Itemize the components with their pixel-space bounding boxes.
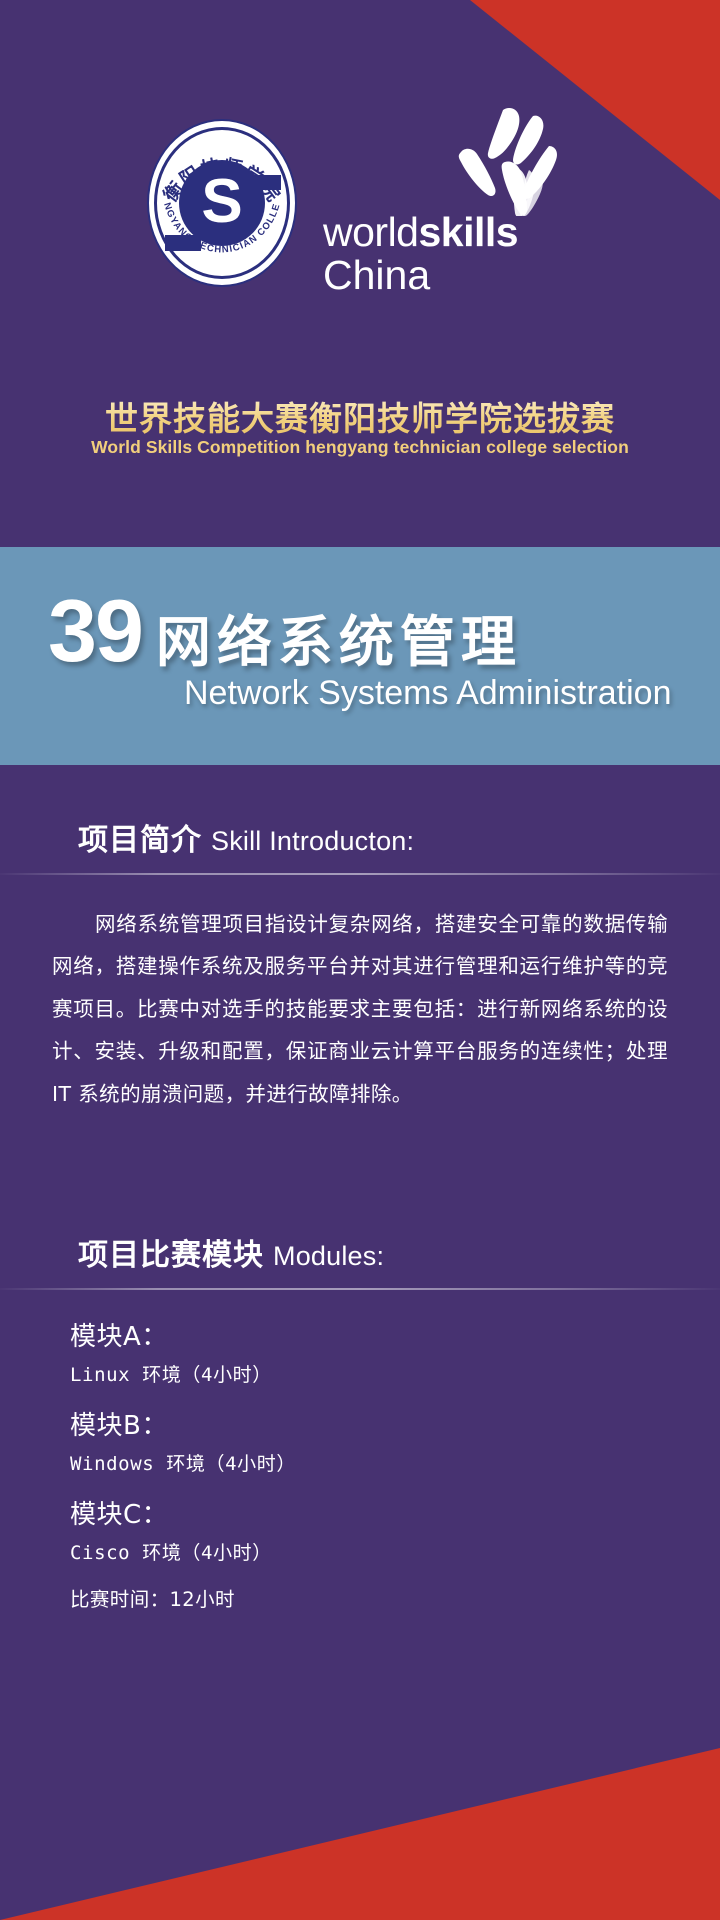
skill-banner: 39 网络系统管理 Network Systems Administration (0, 547, 720, 765)
section-modules: 项目比赛模块 Modules: 模块A： Linux 环境（4小时） 模块B： … (0, 1230, 720, 1612)
worldskills-word-skills: skills (418, 209, 518, 255)
modules-heading-divider (0, 1288, 720, 1290)
worldskills-word-china: China (323, 255, 573, 297)
skill-number: 39 (48, 591, 142, 672)
bottom-red-corner-decoration (0, 1740, 720, 1920)
skill-banner-row: 39 网络系统管理 (48, 591, 710, 672)
worldskills-china-logo: worldskills China (323, 108, 573, 298)
total-competition-time: 比赛时间：12小时 (70, 1583, 720, 1612)
seal-notch-right (247, 175, 281, 190)
worldskills-word-world: world (323, 209, 418, 255)
intro-heading-cn: 项目简介 (78, 815, 202, 859)
seal-s-monogram (179, 160, 265, 246)
seal-notch-left (165, 235, 201, 251)
poster-header: 衡阳技师学院 HENGYANG TECHNICIAN COLLEGE (0, 0, 720, 440)
list-item: 模块A： Linux 环境（4小时） (70, 1316, 720, 1387)
poster-title-en: World Skills Competition hengyang techni… (0, 437, 720, 458)
intro-body-text: 网络系统管理项目指设计复杂网络，搭建安全可靠的数据传输网络，搭建操作系统及服务平… (52, 903, 668, 1115)
skill-name-cn: 网络系统管理 (156, 615, 522, 670)
modules-heading: 项目比赛模块 Modules: (0, 1230, 720, 1274)
module-description: Linux 环境（4小时） (70, 1360, 720, 1387)
logo-row: 衡阳技师学院 HENGYANG TECHNICIAN COLLEGE (0, 108, 720, 298)
module-description: Cisco 环境（4小时） (70, 1538, 720, 1565)
modules-list: 模块A： Linux 环境（4小时） 模块B： Windows 环境（4小时） … (70, 1316, 720, 1612)
module-title: 模块A： (70, 1316, 720, 1353)
intro-heading-en: Skill Introducton: (211, 826, 414, 857)
section-skill-introduction: 项目简介 Skill Introducton: 网络系统管理项目指设计复杂网络，… (0, 815, 720, 1115)
module-description: Windows 环境（4小时） (70, 1449, 720, 1476)
modules-heading-en: Modules: (273, 1241, 384, 1272)
intro-heading-divider (0, 873, 720, 875)
modules-heading-cn: 项目比赛模块 (78, 1230, 264, 1274)
worldskills-hand-icon (445, 104, 569, 216)
intro-heading: 项目简介 Skill Introducton: (0, 815, 720, 859)
skill-name-en: Network Systems Administration (184, 674, 710, 713)
hengyang-technician-college-seal-logo: 衡阳技师学院 HENGYANG TECHNICIAN COLLEGE (147, 119, 297, 287)
list-item: 模块C： Cisco 环境（4小时） (70, 1494, 720, 1565)
poster-title-cn: 世界技能大赛衡阳技师学院选拔赛 (0, 392, 720, 440)
worldskills-wordmark-text: worldskills China (323, 212, 573, 297)
module-title: 模块C： (70, 1494, 720, 1531)
module-title: 模块B： (70, 1405, 720, 1442)
poster-root: 衡阳技师学院 HENGYANG TECHNICIAN COLLEGE (0, 0, 720, 1920)
skill-banner-content: 39 网络系统管理 Network Systems Administration (48, 591, 710, 713)
list-item: 模块B： Windows 环境（4小时） (70, 1405, 720, 1476)
